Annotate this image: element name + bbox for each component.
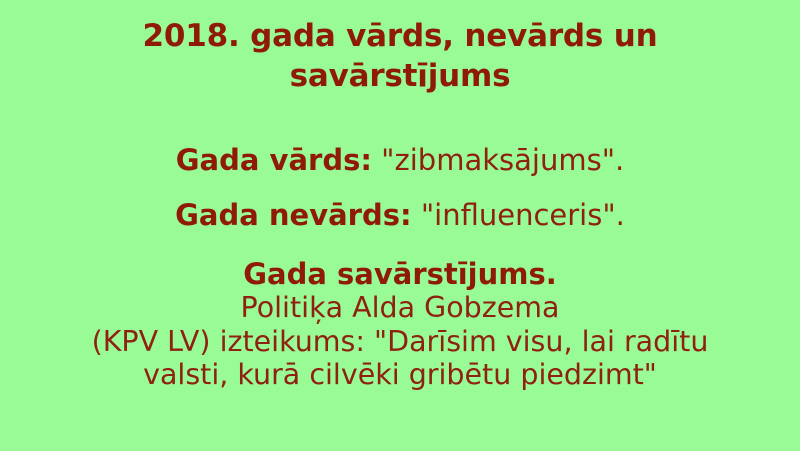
- slide-title-block: 2018. gada vārds, nevārds un savārstījum…: [0, 17, 800, 96]
- presentation-slide: 2018. gada vārds, nevārds un savārstījum…: [0, 0, 800, 451]
- award-entry-label: Gada vārds:: [176, 143, 372, 177]
- award-entry-value: "influenceris".: [421, 198, 625, 232]
- award-entries-list: Gada vārds: "zibmaksājums". Gada nevārds…: [0, 146, 800, 230]
- award-entry-non-word-of-the-year: Gada nevārds: "influenceris".: [18, 201, 782, 230]
- award-entry-value: "zibmaksājums".: [381, 143, 624, 177]
- closing-heading: Gada savārstījums.: [10, 258, 790, 291]
- closing-body-text: Politiķa Alda Gobzema (KPV LV) izteikums…: [10, 291, 790, 392]
- award-entry-phrase-of-the-year: Gada savārstījums. Politiķa Alda Gobzema…: [0, 258, 800, 392]
- slide-title: 2018. gada vārds, nevārds un savārstījum…: [60, 17, 740, 96]
- award-entry-word-of-the-year: Gada vārds: "zibmaksājums".: [18, 146, 782, 175]
- award-entry-label: Gada nevārds:: [175, 198, 412, 232]
